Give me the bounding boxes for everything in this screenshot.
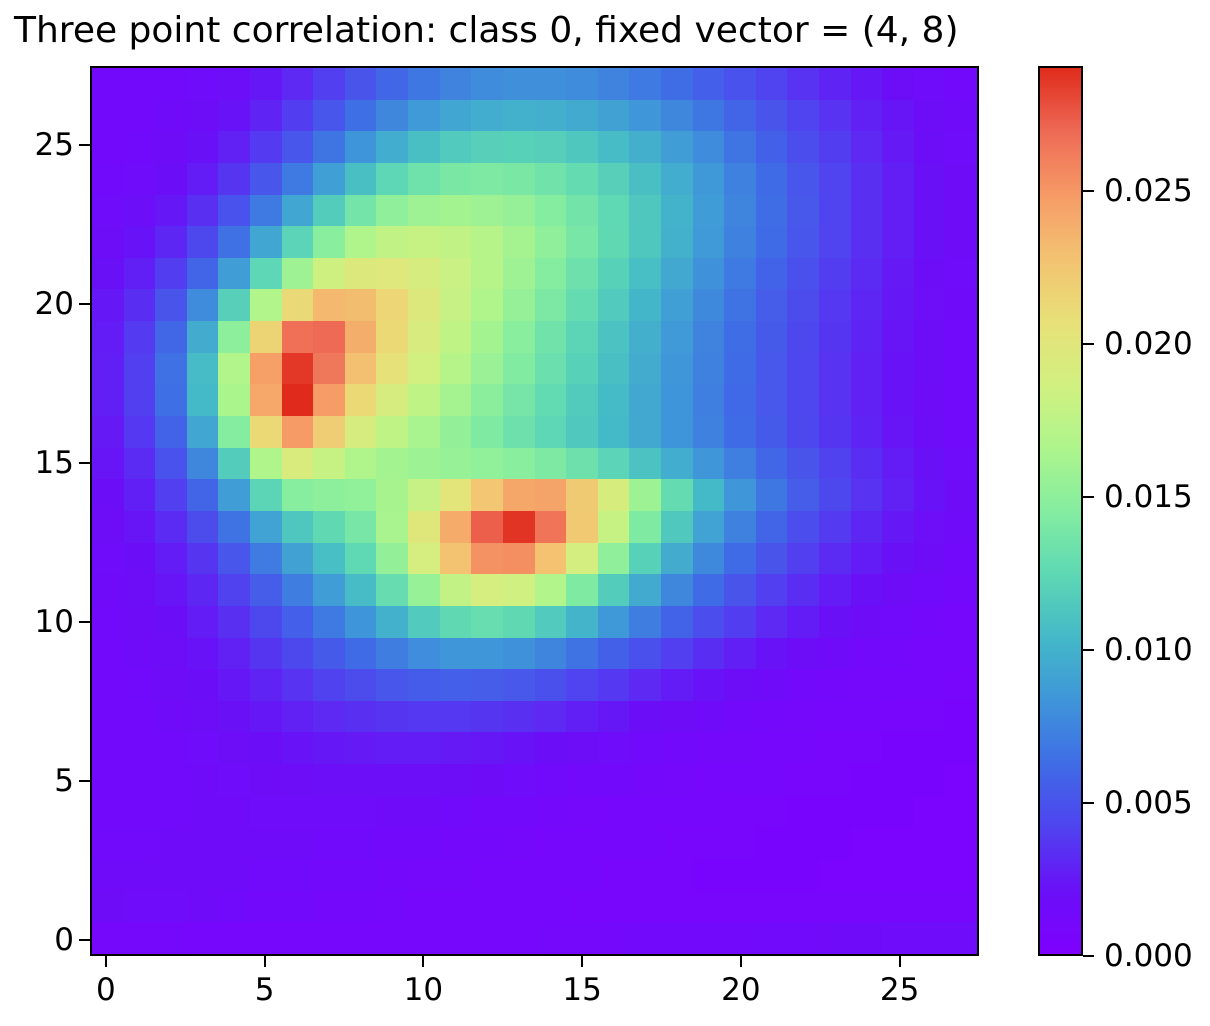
heatmap-cell [851, 669, 883, 701]
colorbar-tick-label: 0.000 [1104, 938, 1193, 974]
heatmap-cell [882, 922, 914, 954]
heatmap-cell [535, 891, 567, 923]
heatmap-cell [345, 669, 377, 701]
heatmap-cell [92, 195, 124, 227]
heatmap-cell [756, 922, 788, 954]
heatmap-cell [724, 796, 756, 828]
heatmap-cell [629, 574, 661, 606]
heatmap-cell [503, 416, 535, 448]
heatmap-cell [882, 701, 914, 733]
heatmap-cell [218, 479, 250, 511]
heatmap-cell [661, 922, 693, 954]
heatmap-cell [914, 321, 946, 353]
heatmap-cell [566, 131, 598, 163]
heatmap-cell [471, 574, 503, 606]
heatmap-cell [756, 669, 788, 701]
heatmap-cell [882, 479, 914, 511]
heatmap-cell [945, 543, 977, 575]
heatmap-cell [408, 543, 440, 575]
heatmap-cell [945, 827, 977, 859]
heatmap-cell [250, 606, 282, 638]
heatmap-cell [787, 258, 819, 290]
heatmap-cell [313, 448, 345, 480]
heatmap-cell [408, 258, 440, 290]
heatmap-cell [882, 163, 914, 195]
heatmap-cell [187, 100, 219, 132]
heatmap-cell [661, 384, 693, 416]
heatmap-cell [819, 416, 851, 448]
heatmap-cell [945, 479, 977, 511]
heatmap-cell [914, 891, 946, 923]
heatmap-cell [282, 796, 314, 828]
heatmap-cell [756, 195, 788, 227]
heatmap-cell [851, 827, 883, 859]
heatmap-cell [914, 606, 946, 638]
heatmap-cell [566, 384, 598, 416]
heatmap-cell [218, 226, 250, 258]
heatmap-cell [851, 289, 883, 321]
heatmap-cell [787, 859, 819, 891]
heatmap-cell [471, 764, 503, 796]
heatmap-cell [819, 511, 851, 543]
heatmap-cell [376, 68, 408, 100]
heatmap-cell [282, 669, 314, 701]
heatmap-cell [535, 922, 567, 954]
colorbar-tick-mark [1083, 802, 1094, 804]
heatmap-grid[interactable] [92, 68, 977, 954]
heatmap-cell [408, 859, 440, 891]
heatmap-cell [724, 258, 756, 290]
heatmap-cell [376, 827, 408, 859]
heatmap-cell [598, 289, 630, 321]
heatmap-cell [629, 701, 661, 733]
heatmap-cell [661, 859, 693, 891]
heatmap-cell [882, 669, 914, 701]
heatmap-cell [851, 321, 883, 353]
y-tick-label: 0 [4, 922, 74, 958]
heatmap-cell [535, 796, 567, 828]
heatmap-cell [598, 353, 630, 385]
heatmap-cell [408, 131, 440, 163]
heatmap-cell [440, 416, 472, 448]
heatmap-cell [851, 859, 883, 891]
heatmap-cell [819, 922, 851, 954]
heatmap-cell [535, 701, 567, 733]
heatmap-cell [882, 827, 914, 859]
heatmap-cell [92, 258, 124, 290]
heatmap-cell [882, 543, 914, 575]
heatmap-cell [313, 764, 345, 796]
heatmap-cell [376, 258, 408, 290]
heatmap-cell [724, 479, 756, 511]
y-tick-mark [79, 462, 90, 464]
heatmap-cell [661, 574, 693, 606]
heatmap-cell [440, 353, 472, 385]
heatmap-cell [882, 131, 914, 163]
heatmap-cell [471, 131, 503, 163]
heatmap-cell [187, 859, 219, 891]
heatmap-cell [693, 448, 725, 480]
heatmap-cell [187, 353, 219, 385]
heatmap-cell [218, 416, 250, 448]
heatmap-cell [566, 701, 598, 733]
heatmap-cell [756, 827, 788, 859]
heatmap-cell [408, 574, 440, 606]
heatmap-cell [282, 68, 314, 100]
heatmap-cell [724, 353, 756, 385]
heatmap-cell [282, 543, 314, 575]
heatmap-cell [724, 638, 756, 670]
heatmap-cell [408, 68, 440, 100]
heatmap-cell [566, 289, 598, 321]
heatmap-cell [629, 891, 661, 923]
heatmap-cell [313, 638, 345, 670]
heatmap-cell [408, 764, 440, 796]
heatmap-cell [313, 827, 345, 859]
heatmap-cell [693, 511, 725, 543]
heatmap-cell [724, 163, 756, 195]
heatmap-cell [787, 195, 819, 227]
heatmap-cell [629, 606, 661, 638]
heatmap-cell [535, 732, 567, 764]
heatmap-cell [408, 511, 440, 543]
heatmap-cell [629, 479, 661, 511]
heatmap-cell [724, 922, 756, 954]
heatmap-cell [914, 764, 946, 796]
heatmap-cell [250, 68, 282, 100]
heatmap-cell [629, 732, 661, 764]
heatmap-cell [440, 732, 472, 764]
heatmap-cell [376, 289, 408, 321]
heatmap-cell [693, 68, 725, 100]
heatmap-cell [92, 574, 124, 606]
heatmap-cell [914, 796, 946, 828]
heatmap-cell [535, 258, 567, 290]
heatmap-cell [282, 448, 314, 480]
heatmap-cell [124, 416, 156, 448]
heatmap-cell [440, 764, 472, 796]
heatmap-cell [566, 574, 598, 606]
heatmap-cell [124, 764, 156, 796]
heatmap-cell [408, 479, 440, 511]
heatmap-cell [566, 732, 598, 764]
heatmap-cell [851, 606, 883, 638]
heatmap-cell [282, 732, 314, 764]
heatmap-cell [566, 891, 598, 923]
heatmap-cell [408, 289, 440, 321]
heatmap-cell [945, 321, 977, 353]
heatmap-cell [313, 701, 345, 733]
heatmap-cell [693, 669, 725, 701]
heatmap-cell [787, 163, 819, 195]
heatmap-cell [187, 543, 219, 575]
heatmap-cell [92, 511, 124, 543]
heatmap-cell [92, 353, 124, 385]
heatmap-cell [250, 827, 282, 859]
heatmap-cell [345, 448, 377, 480]
heatmap-cell [503, 68, 535, 100]
heatmap-cell [598, 701, 630, 733]
heatmap-cell [471, 701, 503, 733]
heatmap-cell [471, 859, 503, 891]
heatmap-cell [155, 131, 187, 163]
heatmap-cell [187, 922, 219, 954]
heatmap-cell [155, 827, 187, 859]
heatmap-cell [408, 701, 440, 733]
heatmap-cell [693, 764, 725, 796]
heatmap-cell [566, 353, 598, 385]
heatmap-cell [471, 669, 503, 701]
colorbar[interactable] [1038, 66, 1083, 956]
heatmap-cell [566, 448, 598, 480]
heatmap-cell [819, 543, 851, 575]
heatmap-cell [124, 669, 156, 701]
heatmap-cell [882, 606, 914, 638]
heatmap-cell [535, 321, 567, 353]
heatmap-cell [503, 289, 535, 321]
heatmap-cell [914, 574, 946, 606]
heatmap-cell [629, 321, 661, 353]
heatmap-cell [376, 131, 408, 163]
heatmap-cell [471, 922, 503, 954]
heatmap-cell [882, 448, 914, 480]
heatmap-cell [313, 511, 345, 543]
heatmap-cell [218, 289, 250, 321]
heatmap-cell [408, 163, 440, 195]
heatmap-cell [503, 891, 535, 923]
heatmap-cell [313, 922, 345, 954]
heatmap-cell [629, 416, 661, 448]
heatmap-cell [914, 163, 946, 195]
heatmap-cell [92, 68, 124, 100]
heatmap-cell [92, 859, 124, 891]
heatmap-cell [345, 416, 377, 448]
heatmap-cell [471, 321, 503, 353]
heatmap-cell [503, 321, 535, 353]
heatmap-cell [945, 226, 977, 258]
heatmap-cell [819, 669, 851, 701]
heatmap-cell [408, 732, 440, 764]
heatmap-cell [819, 479, 851, 511]
heatmap-cell [92, 131, 124, 163]
heatmap-cell [250, 226, 282, 258]
heatmap-cell [629, 922, 661, 954]
heatmap-cell [282, 606, 314, 638]
heatmap-cell [661, 68, 693, 100]
heatmap-cell [787, 321, 819, 353]
heatmap-cell [408, 827, 440, 859]
colorbar-tick-label: 0.005 [1104, 785, 1193, 821]
heatmap-cell [661, 448, 693, 480]
heatmap-cell [282, 574, 314, 606]
heatmap-cell [661, 827, 693, 859]
heatmap-cell [440, 891, 472, 923]
heatmap-cell [756, 764, 788, 796]
heatmap-cell [155, 764, 187, 796]
heatmap-cell [155, 701, 187, 733]
heatmap-cell [250, 353, 282, 385]
heatmap-cell [92, 321, 124, 353]
heatmap-cell [282, 258, 314, 290]
heatmap-cell [218, 258, 250, 290]
heatmap-cell [250, 321, 282, 353]
heatmap-cell [787, 384, 819, 416]
heatmap-cell [313, 384, 345, 416]
heatmap-cell [408, 922, 440, 954]
heatmap-cell [566, 859, 598, 891]
heatmap-cell [693, 289, 725, 321]
heatmap-cell [345, 384, 377, 416]
heatmap-cell [218, 100, 250, 132]
heatmap-cell [124, 922, 156, 954]
heatmap-cell [724, 543, 756, 575]
x-tick-mark [899, 956, 901, 967]
heatmap-cell [408, 638, 440, 670]
heatmap-cell [503, 384, 535, 416]
heatmap-cell [819, 732, 851, 764]
y-tick-label: 15 [4, 445, 74, 481]
heatmap-cell [313, 574, 345, 606]
heatmap-cell [187, 701, 219, 733]
heatmap-cell [914, 732, 946, 764]
heatmap-cell [313, 669, 345, 701]
heatmap-cell [819, 68, 851, 100]
heatmap-cell [250, 891, 282, 923]
heatmap-cell [661, 638, 693, 670]
heatmap-cell [535, 511, 567, 543]
heatmap-cell [598, 891, 630, 923]
heatmap-cell [693, 701, 725, 733]
heatmap-cell [661, 163, 693, 195]
heatmap-cell [787, 479, 819, 511]
heatmap-cell [851, 701, 883, 733]
heatmap-cell [282, 827, 314, 859]
heatmap-cell [313, 195, 345, 227]
heatmap-cell [598, 827, 630, 859]
heatmap-cell [408, 195, 440, 227]
heatmap-cell [471, 416, 503, 448]
heatmap-cell [598, 922, 630, 954]
heatmap-cell [724, 384, 756, 416]
heatmap-cell [756, 606, 788, 638]
heatmap-cell [629, 353, 661, 385]
heatmap-cell [313, 353, 345, 385]
heatmap-cell [914, 226, 946, 258]
heatmap-cell [661, 258, 693, 290]
heatmap-cell [819, 321, 851, 353]
heatmap-cell [882, 764, 914, 796]
heatmap-cell [851, 100, 883, 132]
heatmap-cell [851, 764, 883, 796]
heatmap-cell [282, 859, 314, 891]
heatmap-cell [819, 195, 851, 227]
heatmap-cell [124, 732, 156, 764]
heatmap-cell [155, 891, 187, 923]
heatmap-cell [503, 353, 535, 385]
heatmap-cell [787, 764, 819, 796]
heatmap-cell [471, 163, 503, 195]
heatmap-cell [535, 131, 567, 163]
heatmap-cell [187, 258, 219, 290]
heatmap-cell [250, 131, 282, 163]
heatmap-cell [535, 827, 567, 859]
heatmap-cell [218, 669, 250, 701]
heatmap-cell [440, 131, 472, 163]
heatmap-cell [440, 226, 472, 258]
heatmap-cell [440, 574, 472, 606]
heatmap-cell [124, 479, 156, 511]
heatmap-cell [503, 796, 535, 828]
heatmap-cell [945, 574, 977, 606]
heatmap-cell [250, 289, 282, 321]
heatmap-cell [851, 163, 883, 195]
heatmap-cell [756, 701, 788, 733]
colorbar-tick-mark [1083, 190, 1094, 192]
heatmap-cell [819, 606, 851, 638]
heatmap-cell [187, 448, 219, 480]
heatmap-cell [914, 289, 946, 321]
heatmap-cell [124, 195, 156, 227]
heatmap-cell [851, 353, 883, 385]
heatmap-cell [914, 416, 946, 448]
heatmap-cell [187, 68, 219, 100]
heatmap-cell [282, 511, 314, 543]
heatmap-cell [535, 226, 567, 258]
heatmap-cell [345, 638, 377, 670]
heatmap-cell [661, 226, 693, 258]
heatmap-cell [471, 511, 503, 543]
colorbar-tick-mark [1083, 955, 1094, 957]
heatmap-cell [851, 891, 883, 923]
heatmap-cell [124, 289, 156, 321]
heatmap-cell [787, 574, 819, 606]
heatmap-cell [535, 859, 567, 891]
heatmap-axes[interactable] [90, 66, 979, 956]
heatmap-cell [345, 353, 377, 385]
heatmap-cell [155, 289, 187, 321]
heatmap-cell [598, 68, 630, 100]
heatmap-cell [503, 258, 535, 290]
heatmap-cell [503, 827, 535, 859]
heatmap-cell [282, 289, 314, 321]
heatmap-cell [819, 796, 851, 828]
heatmap-cell [724, 732, 756, 764]
heatmap-cell [693, 321, 725, 353]
heatmap-cell [819, 163, 851, 195]
heatmap-cell [376, 226, 408, 258]
heatmap-cell [756, 416, 788, 448]
heatmap-cell [756, 448, 788, 480]
heatmap-cell [598, 511, 630, 543]
heatmap-cell [155, 163, 187, 195]
x-tick-mark [581, 956, 583, 967]
heatmap-cell [535, 289, 567, 321]
heatmap-cell [155, 859, 187, 891]
heatmap-cell [693, 163, 725, 195]
heatmap-cell [313, 543, 345, 575]
heatmap-cell [376, 448, 408, 480]
heatmap-cell [882, 384, 914, 416]
heatmap-cell [535, 764, 567, 796]
colorbar-tick-mark [1083, 496, 1094, 498]
heatmap-cell [756, 891, 788, 923]
heatmap-cell [282, 638, 314, 670]
heatmap-cell [882, 638, 914, 670]
heatmap-cell [566, 479, 598, 511]
heatmap-cell [503, 131, 535, 163]
heatmap-cell [693, 543, 725, 575]
heatmap-cell [218, 606, 250, 638]
